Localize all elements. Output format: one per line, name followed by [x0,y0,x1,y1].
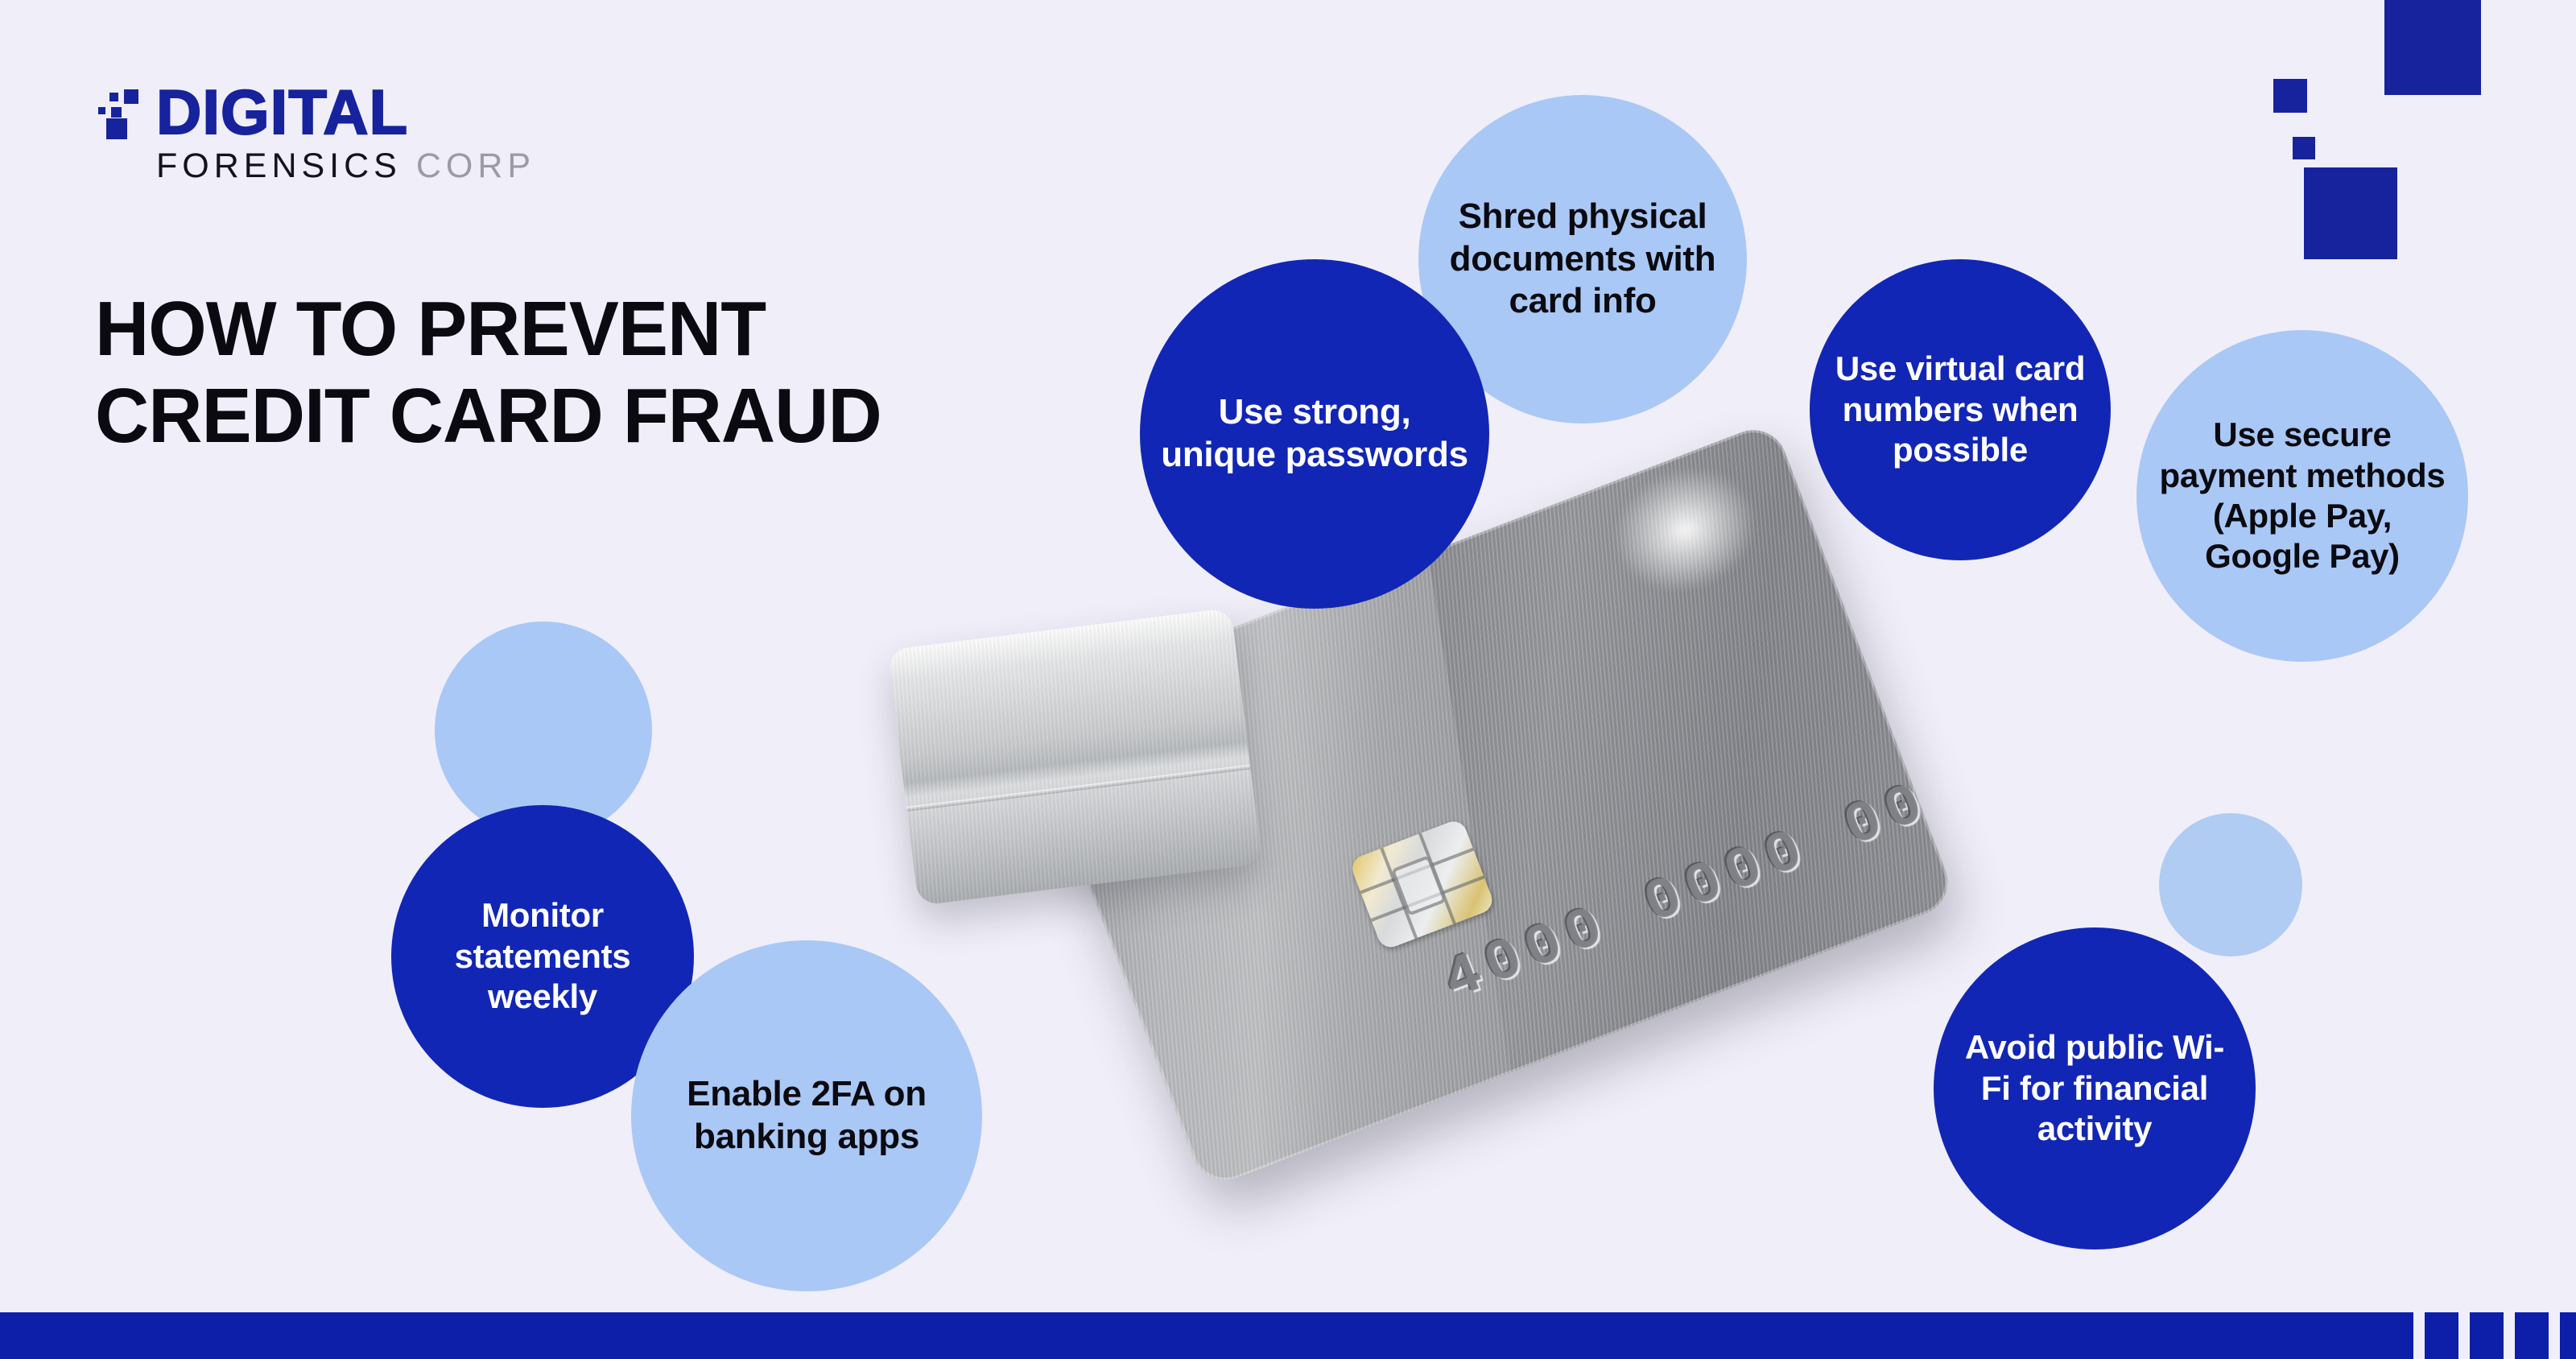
tip-bubble-strong-passwords[interactable]: Use strong, unique passwords [1140,259,1489,609]
tip-bubble-enable-2fa[interactable]: Enable 2FA on banking apps [631,940,982,1291]
tip-text-monitor-statements: Monitor statements weekly [412,895,673,1017]
card-glare [1596,448,1775,613]
tip-text-virtual-card: Use virtual card numbers when possible [1831,349,2090,470]
decor-square-4 [2304,167,2397,259]
logo-word-forensics: FORENSICS [156,147,402,186]
tip-text-strong-passwords: Use strong, unique passwords [1161,391,1468,477]
footer-accent-bar [0,1312,2576,1359]
brand-logo: DIGITAL FORENSICS CORP [95,85,535,186]
decor-square-3 [2384,0,2481,95]
tip-text-secure-payment: Use secure payment methods (Apple Pay, G… [2157,415,2447,577]
tip-text-avoid-public-wifi: Avoid public Wi-Fi for financial activit… [1955,1027,2235,1149]
tip-bubble-avoid-public-wifi[interactable]: Avoid public Wi-Fi for financial activit… [1934,927,2256,1250]
padlock-body-icon [887,608,1262,906]
tip-bubble-secure-payment[interactable]: Use secure payment methods (Apple Pay, G… [2136,330,2468,662]
page-title: HOW TO PREVENT CREDIT CARD FRAUD [95,286,881,459]
tip-text-shred-documents: Shred physical documents with card info [1439,196,1726,323]
card-number: 4000 0000 0000 0000 [1436,662,1958,1015]
tip-text-enable-2fa: Enable 2FA on banking apps [652,1073,961,1159]
logo-word-corp: CORP [416,147,535,186]
pixel-blocks-icon [95,85,145,139]
tip-bubble-virtual-card[interactable]: Use virtual card numbers when possible [1810,259,2111,560]
logo-word-digital: DIGITAL [156,85,408,139]
infographic-canvas: DIGITAL FORENSICS CORP HOW TO PREVENT CR… [0,0,2576,1359]
decor-square-1 [2273,79,2307,113]
decor-square-2 [2293,137,2315,159]
page-title-line-1: HOW TO PREVENT [95,286,766,372]
page-title-line-2: CREDIT CARD FRAUD [95,373,881,460]
